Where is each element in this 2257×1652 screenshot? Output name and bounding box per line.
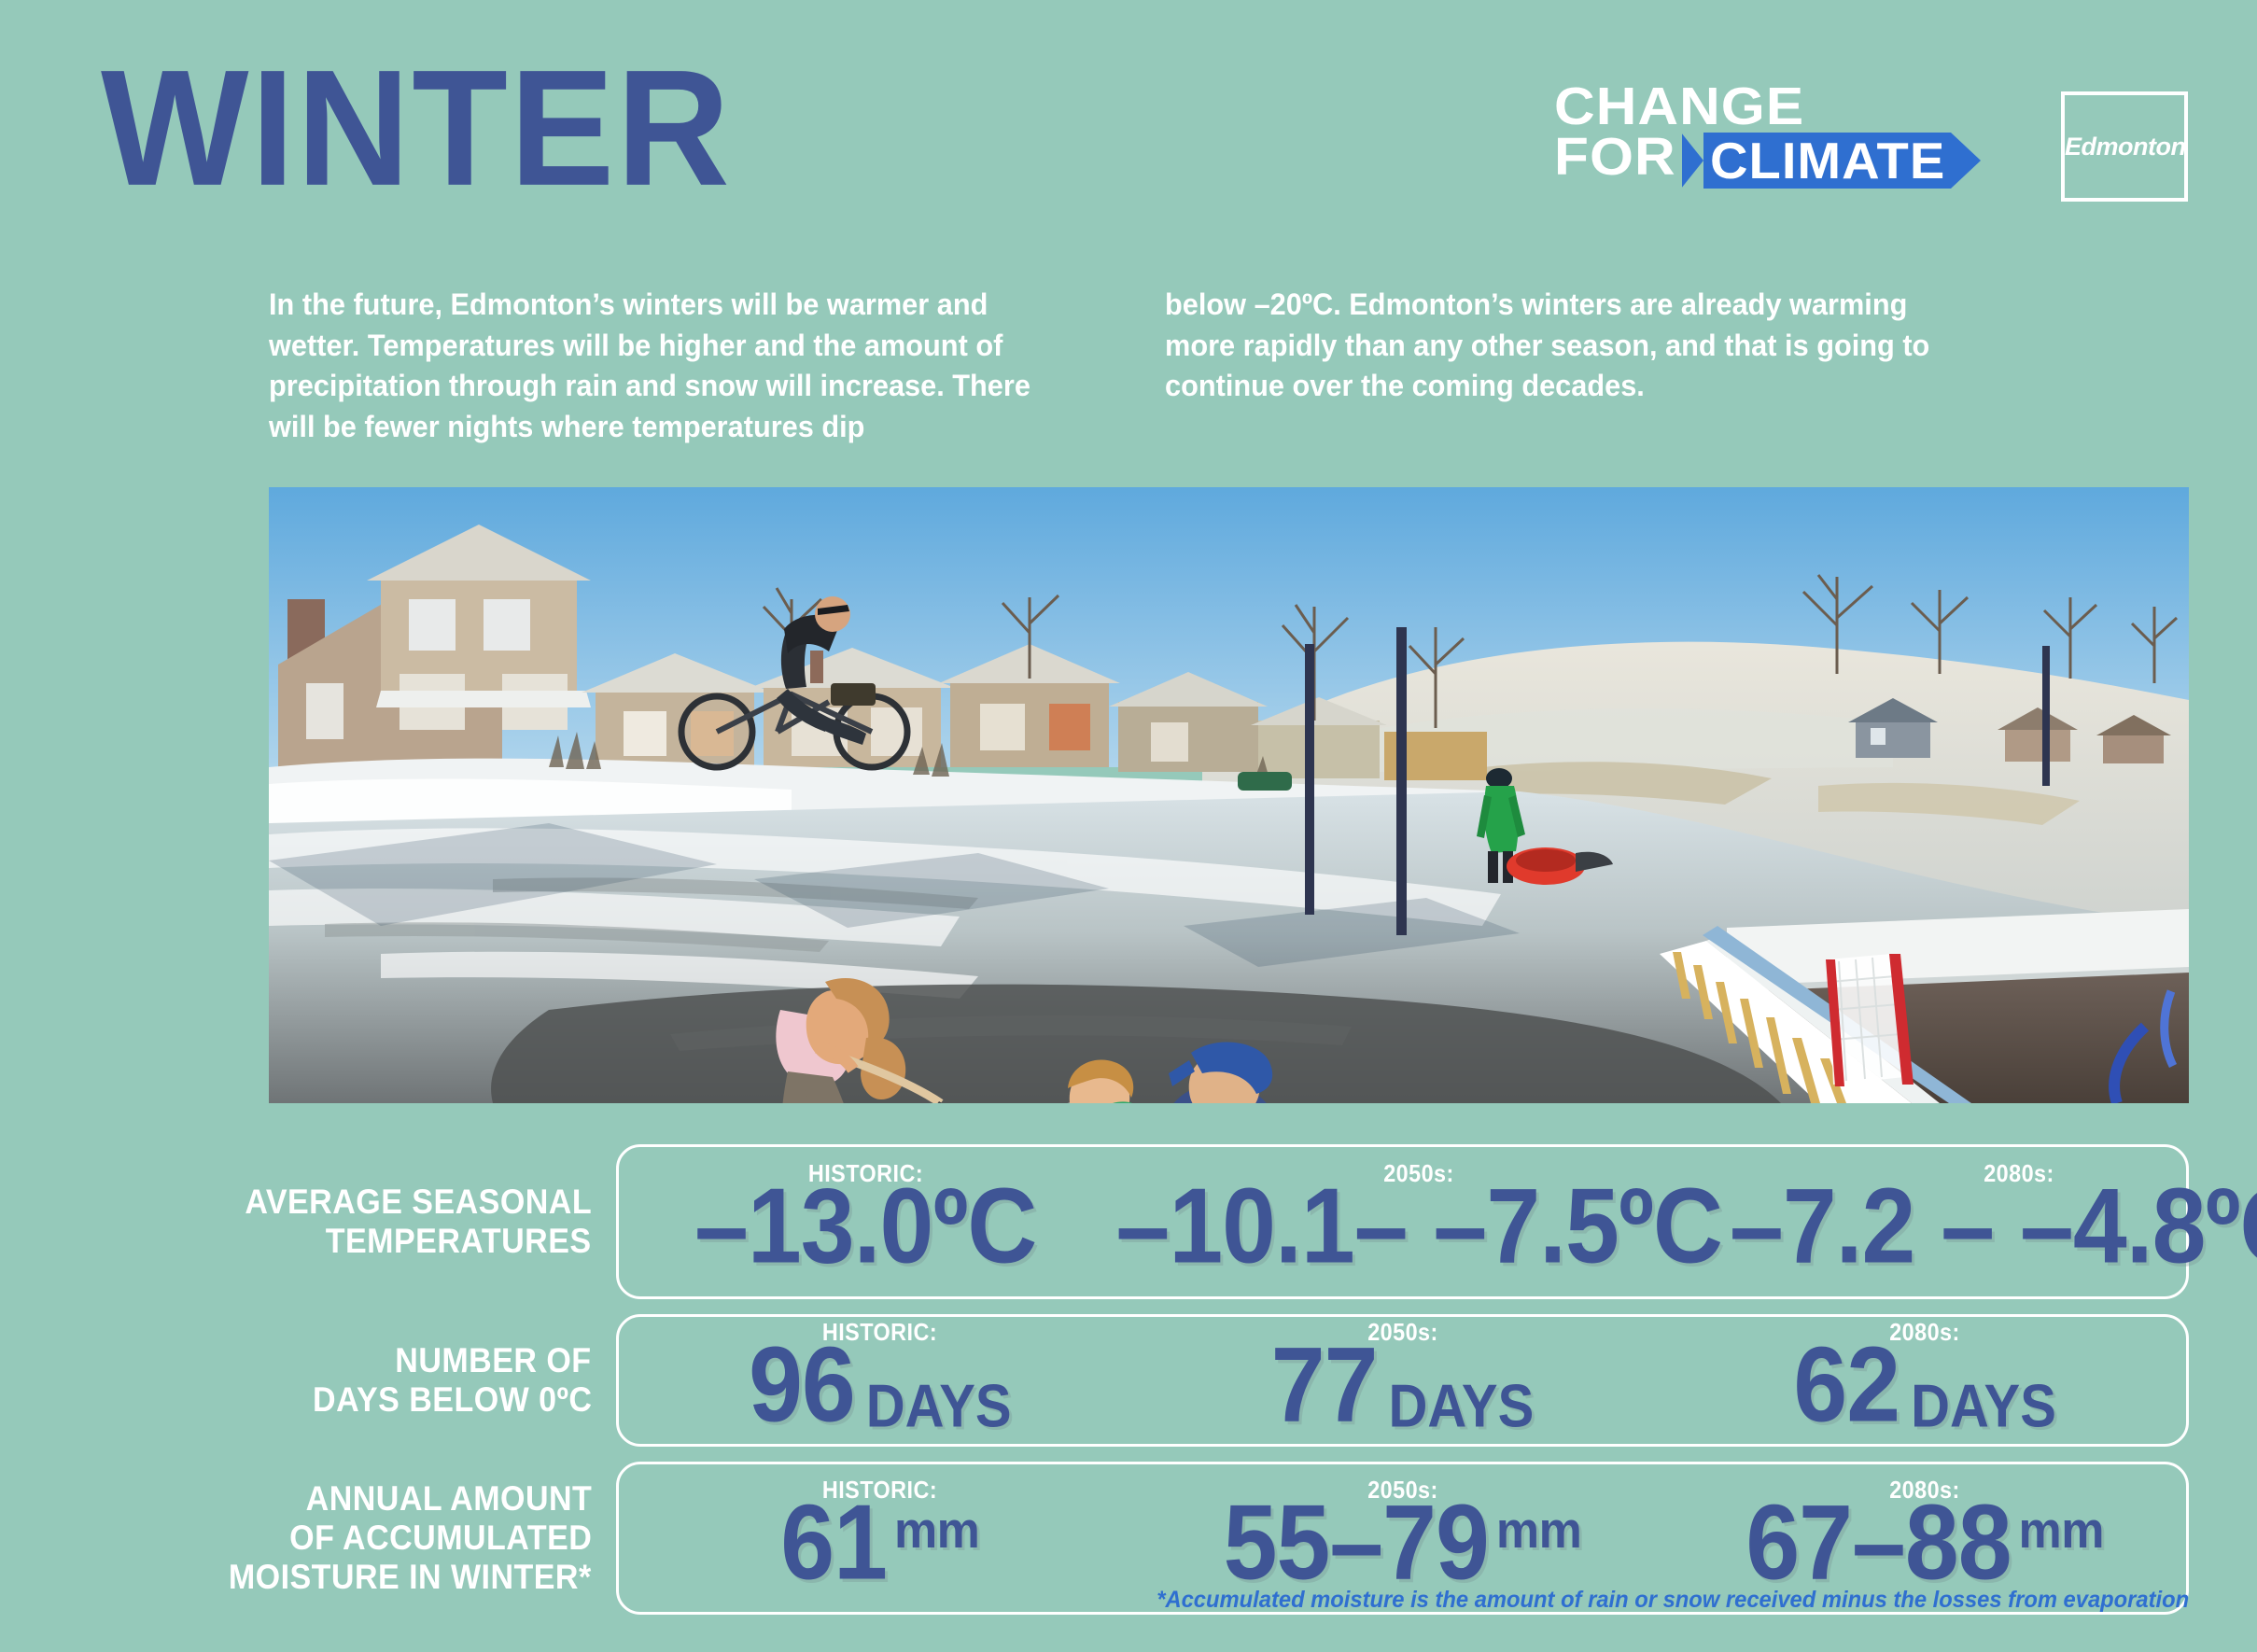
row-label-line: OF ACCUMULATED <box>289 1519 592 1558</box>
cell-2080s: 2080s: 62 DAYS <box>1663 1317 2186 1444</box>
logo-line-change: CHANGE <box>1554 82 2079 131</box>
cell-value: –7.2 – –4.8ºC <box>1730 1187 2257 1277</box>
infographic-page: WINTER CHANGE FOR CLIMATE Edmonton In th… <box>0 0 2257 1652</box>
cell-value: –13.0ºC <box>694 1187 1036 1277</box>
cell-caption: 2050s: <box>1367 1320 1438 1344</box>
cell-2050s: 2050s: –10.1– –7.5ºC <box>1112 1147 1726 1296</box>
intro-left-column: In the future, Edmonton’s winters will b… <box>269 285 1081 447</box>
row-values-box: HISTORIC: 96 DAYS 2050s: 77 DAYS 2080s: <box>616 1314 2189 1447</box>
city-of-edmonton-wordmark: Edmonton <box>2065 133 2184 161</box>
winter-scene-illustration <box>269 487 2189 1103</box>
row-values-box: HISTORIC: –13.0ºC 2050s: –10.1– –7.5ºC 2… <box>616 1144 2189 1299</box>
intro-paragraph-left: In the future, Edmonton’s winters will b… <box>269 285 1048 447</box>
table-row: AVERAGE SEASONAL TEMPERATURES HISTORIC: … <box>0 1144 2257 1299</box>
value-unit: DAYS <box>866 1379 1012 1435</box>
logo-word-climate: CLIMATE <box>1710 135 1945 187</box>
cell-value: 61 mm <box>780 1504 979 1593</box>
value-number: –7.2 – –4.8ºC <box>1730 1179 2257 1277</box>
footnote: *Accumulated moisture is the amount of r… <box>1157 1587 2189 1614</box>
value-unit: mm <box>2019 1508 2104 1555</box>
intro-right-column: below –20ºC. Edmonton’s winters are alre… <box>1165 285 2005 407</box>
row-label-average-seasonal-temperatures: AVERAGE SEASONAL TEMPERATURES <box>0 1144 616 1299</box>
row-label-line: MOISTURE IN WINTER* <box>229 1558 592 1597</box>
cell-historic: HISTORIC: 96 DAYS <box>619 1317 1142 1444</box>
logo-climate-banner: CLIMATE <box>1682 133 1950 189</box>
city-of-edmonton-logo: Edmonton <box>2061 91 2188 202</box>
logo-line-for-climate: FOR CLIMATE <box>1554 133 2049 189</box>
value-number: 61 <box>780 1495 887 1593</box>
value-number: 96 <box>749 1337 855 1435</box>
winter-scene-photo <box>269 487 2189 1103</box>
logo-word-for: FOR <box>1554 133 1676 181</box>
cell-value: 55–79 mm <box>1224 1504 1582 1593</box>
row-label-number-of-days-below-zero: NUMBER OF DAYS BELOW 0ºC <box>0 1314 616 1447</box>
value-unit: DAYS <box>1388 1379 1534 1435</box>
value-number: 62 <box>1793 1337 1900 1435</box>
row-label-annual-accumulated-moisture: ANNUAL AMOUNT OF ACCUMULATED MOISTURE IN… <box>0 1462 616 1615</box>
page-title: WINTER <box>101 45 732 210</box>
value-number: –10.1– –7.5ºC <box>1115 1179 1722 1277</box>
cell-2050s: 2050s: 77 DAYS <box>1142 1317 1664 1444</box>
value-number: 77 <box>1271 1337 1378 1435</box>
value-unit: DAYS <box>1911 1379 2056 1435</box>
value-unit: mm <box>894 1508 979 1555</box>
value-number: –13.0ºC <box>694 1179 1036 1277</box>
cell-value: 67–88 mm <box>1745 1504 2104 1593</box>
cell-value: –10.1– –7.5ºC <box>1115 1187 1722 1277</box>
row-label-line: NUMBER OF <box>396 1341 592 1380</box>
row-label-line: TEMPERATURES <box>326 1222 592 1261</box>
value-number: 67–88 <box>1745 1495 2011 1593</box>
cell-historic: HISTORIC: 61 mm <box>619 1464 1142 1612</box>
intro-paragraph-right: below –20ºC. Edmonton’s winters are alre… <box>1165 285 1971 407</box>
row-label-line: DAYS BELOW 0ºC <box>313 1380 592 1420</box>
change-for-climate-logo: CHANGE FOR CLIMATE <box>1554 82 2049 189</box>
row-label-line: AVERAGE SEASONAL <box>245 1183 592 1222</box>
cell-2080s: 2080s: –7.2 – –4.8ºC <box>1726 1147 2257 1296</box>
table-row: NUMBER OF DAYS BELOW 0ºC HISTORIC: 96 DA… <box>0 1314 2257 1447</box>
cell-value: 62 DAYS <box>1793 1346 2056 1435</box>
cell-historic: HISTORIC: –13.0ºC <box>619 1147 1112 1296</box>
value-number: 55–79 <box>1224 1495 1489 1593</box>
row-label-line: ANNUAL AMOUNT <box>305 1479 592 1519</box>
value-unit: mm <box>1496 1508 1581 1555</box>
cell-value: 77 DAYS <box>1271 1346 1535 1435</box>
cell-value: 96 DAYS <box>749 1346 1012 1435</box>
climate-data-table: AVERAGE SEASONAL TEMPERATURES HISTORIC: … <box>0 1144 2257 1630</box>
cell-caption: 2080s: <box>1889 1320 1960 1344</box>
